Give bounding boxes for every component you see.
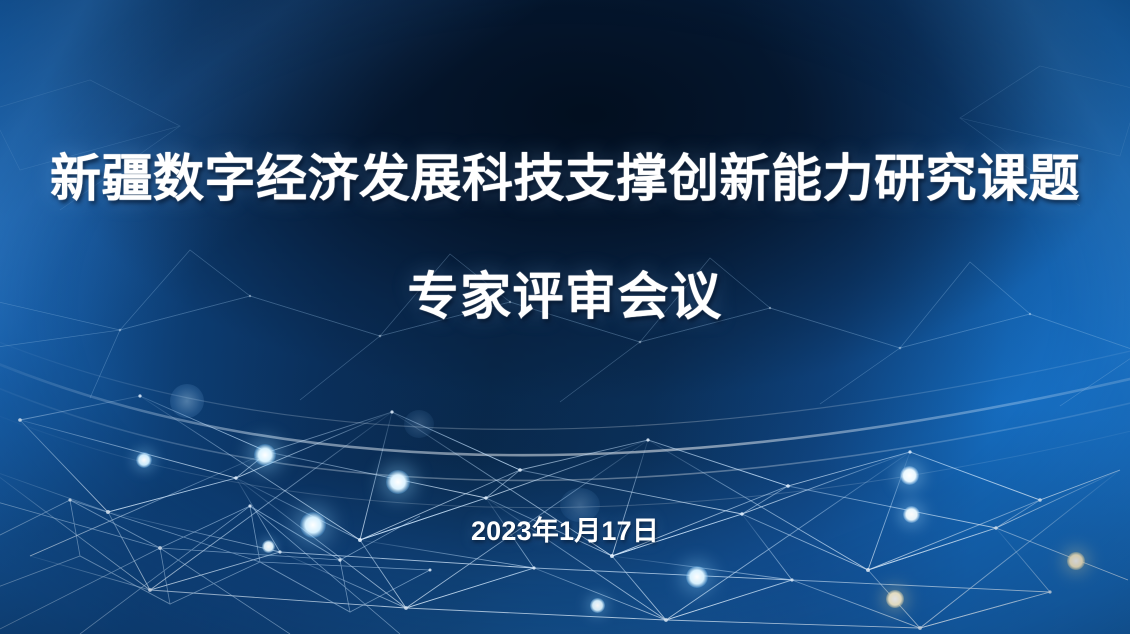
page-subtitle: 专家评审会议 [0,270,1130,324]
slide-text-block: 新疆数字经济发展科技支撑创新能力研究课题 专家评审会议 2023年1月17日 [0,0,1130,634]
page-title: 新疆数字经济发展科技支撑创新能力研究课题 [0,152,1130,206]
slide-date: 2023年1月17日 [0,509,1130,548]
presentation-slide: 新疆数字经济发展科技支撑创新能力研究课题 专家评审会议 2023年1月17日 [0,0,1130,634]
